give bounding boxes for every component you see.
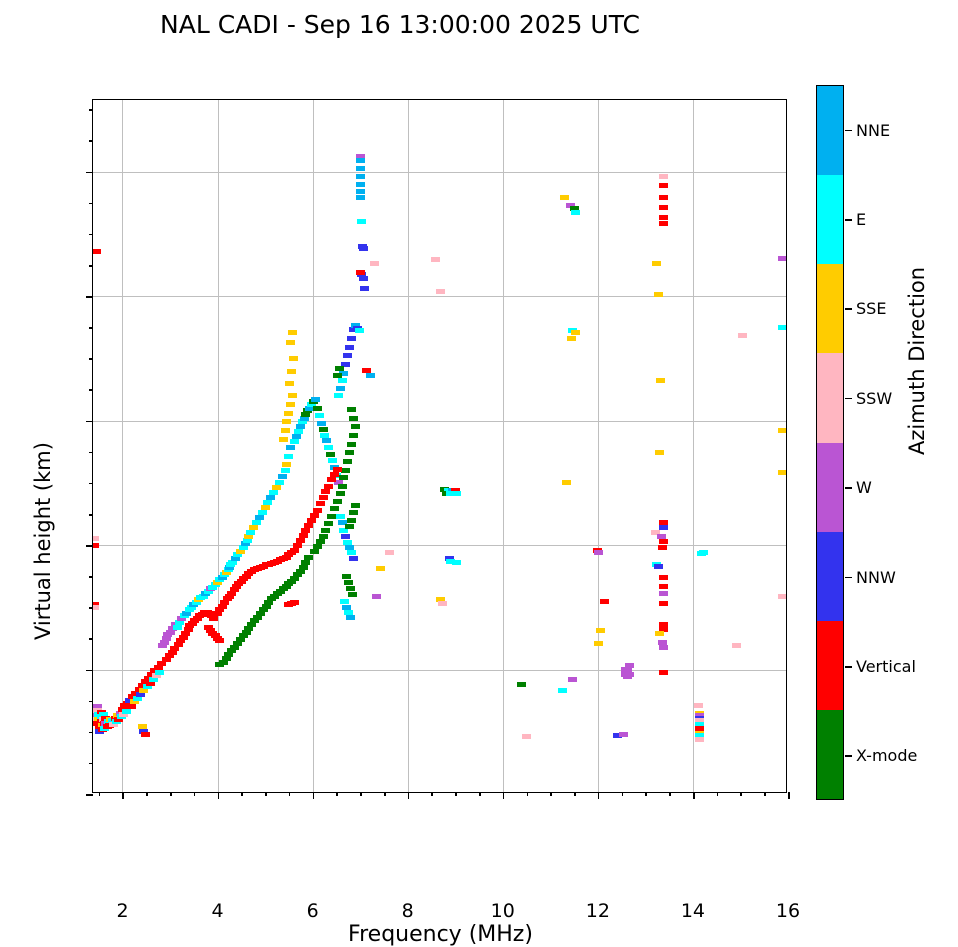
x-tick <box>408 792 410 799</box>
x-tick-minor <box>645 792 647 796</box>
x-tick-label: 4 <box>188 900 248 922</box>
echo-point <box>436 289 445 294</box>
echo-point <box>333 499 342 504</box>
echo-scatter-layer <box>93 100 786 792</box>
echo-point <box>732 643 741 648</box>
echo-point <box>351 424 360 429</box>
echo-point <box>316 501 325 506</box>
echo-point <box>659 183 668 188</box>
colorbar-band-ssw <box>817 353 843 442</box>
echo-point <box>659 215 668 220</box>
echo-point <box>567 336 576 341</box>
colorbar-tick <box>845 755 852 757</box>
x-tick-minor <box>336 792 338 796</box>
echo-point <box>349 416 358 421</box>
echo-point <box>327 477 336 482</box>
echo-point <box>594 550 603 555</box>
echo-point <box>334 393 343 398</box>
echo-point <box>246 530 255 535</box>
y-tick-minor <box>89 327 93 329</box>
x-tick-label: 2 <box>92 900 152 922</box>
echo-point <box>345 524 354 529</box>
x-tick-minor <box>764 792 766 796</box>
colorbar-tick <box>845 487 852 489</box>
echo-point <box>431 257 440 262</box>
echo-point <box>625 672 634 677</box>
echo-point <box>304 523 313 528</box>
y-tick-minor <box>89 389 93 391</box>
echo-point <box>738 333 747 338</box>
echo-point <box>778 256 786 261</box>
echo-point <box>356 270 365 275</box>
echo-point <box>310 549 319 554</box>
echo-point <box>93 543 99 548</box>
echo-point <box>562 480 571 485</box>
echo-point <box>284 454 293 459</box>
echo-point <box>278 474 287 479</box>
x-tick <box>788 792 790 799</box>
echo-point <box>659 525 668 530</box>
echo-point <box>359 276 368 281</box>
echo-point <box>655 631 664 636</box>
echo-point <box>317 421 326 426</box>
echo-point <box>322 438 331 443</box>
x-tick-minor <box>669 792 671 796</box>
echo-point <box>330 506 339 511</box>
echo-point <box>290 439 299 444</box>
colorbar-band-w <box>817 443 843 532</box>
echo-point <box>341 534 350 539</box>
echo-point <box>281 428 290 433</box>
echo-point <box>328 458 337 463</box>
colorbar-tick <box>845 308 852 310</box>
echo-point <box>326 452 335 457</box>
echo-point <box>293 543 302 548</box>
echo-point <box>258 510 267 515</box>
echo-point <box>356 195 365 200</box>
x-tick-minor <box>479 792 481 796</box>
echo-point <box>269 490 278 495</box>
x-tick <box>503 792 505 799</box>
x-tick-minor <box>550 792 552 796</box>
echo-point <box>261 505 270 510</box>
x-tick-minor <box>241 792 243 796</box>
echo-point <box>266 495 275 500</box>
echo-point <box>359 246 368 251</box>
echo-point <box>287 369 296 374</box>
echo-point <box>342 574 351 579</box>
x-tick-minor <box>146 792 148 796</box>
x-tick-minor <box>740 792 742 796</box>
echo-point <box>345 450 354 455</box>
y-tick-minor <box>89 265 93 267</box>
echo-point <box>372 594 381 599</box>
y-tick-minor <box>89 358 93 360</box>
echo-point <box>324 484 333 489</box>
echo-point <box>296 538 305 543</box>
echo-point <box>349 510 358 515</box>
echo-point <box>654 564 663 569</box>
echo-point <box>659 645 668 650</box>
echo-point <box>338 484 347 489</box>
x-axis-label: Frequency (MHz) <box>93 922 788 947</box>
echo-point <box>290 600 299 605</box>
y-tick-minor <box>89 607 93 609</box>
echo-point <box>275 480 284 485</box>
echo-point <box>619 732 628 737</box>
y-tick-minor <box>89 514 93 516</box>
echo-point <box>141 732 150 737</box>
colorbar-band-sse <box>817 264 843 353</box>
colorbar-label-e: E <box>856 210 866 229</box>
x-tick-minor <box>622 792 624 796</box>
colorbar-tick <box>845 398 852 400</box>
echo-point <box>659 539 668 544</box>
echo-point <box>272 485 281 490</box>
x-tick-minor <box>717 792 719 796</box>
echo-point <box>288 393 297 398</box>
echo-point <box>335 366 344 371</box>
echo-point <box>348 592 357 597</box>
echo-point <box>339 475 348 480</box>
echo-point <box>316 539 325 544</box>
echo-point <box>285 381 294 386</box>
echo-point <box>286 340 295 345</box>
echo-point <box>307 518 316 523</box>
echo-point <box>652 261 661 266</box>
echo-point <box>356 166 365 171</box>
echo-point <box>594 641 603 646</box>
echo-point <box>315 413 324 418</box>
echo-point <box>517 682 526 687</box>
echo-point <box>122 709 131 714</box>
echo-point <box>292 434 301 439</box>
echo-point <box>340 599 349 604</box>
y-tick-minor <box>89 732 93 734</box>
page-title: NAL CADI - Sep 16 13:00:00 2025 UTC <box>0 10 800 39</box>
echo-point <box>356 182 365 187</box>
echo-point <box>558 688 567 693</box>
echo-point <box>343 459 352 464</box>
colorbar-band-x-mode <box>817 710 843 799</box>
x-tick-minor <box>194 792 196 796</box>
echo-point <box>346 586 355 591</box>
echo-point <box>659 591 668 596</box>
echo-point <box>360 286 369 291</box>
echo-point <box>778 428 786 433</box>
echo-point <box>321 489 330 494</box>
colorbar-label-nnw: NNW <box>856 568 896 587</box>
x-tick <box>218 792 220 799</box>
x-tick-minor <box>170 792 172 796</box>
colorbar-band-e <box>817 175 843 264</box>
y-tick-minor <box>89 483 93 485</box>
colorbar-title: Azimuth Direction <box>905 267 929 455</box>
echo-point <box>349 556 358 561</box>
echo-point <box>321 528 330 533</box>
echo-point <box>596 628 605 633</box>
y-tick <box>86 172 93 174</box>
echo-point <box>299 533 308 538</box>
echo-point <box>282 462 291 467</box>
echo-point <box>343 353 352 358</box>
x-tick-minor <box>99 792 101 796</box>
echo-point <box>695 737 704 742</box>
colorbar-band-vertical <box>817 621 843 710</box>
echo-point <box>286 402 295 407</box>
echo-point <box>289 356 298 361</box>
echo-point <box>778 594 786 599</box>
echo-point <box>127 704 136 709</box>
echo-point <box>656 378 665 383</box>
ionogram-figure: NAL CADI - Sep 16 13:00:00 2025 UTC Virt… <box>0 0 958 857</box>
echo-point <box>249 525 258 530</box>
echo-point <box>778 325 786 330</box>
x-tick <box>693 792 695 799</box>
echo-point <box>560 195 569 200</box>
y-tick <box>86 421 93 423</box>
echo-point <box>347 442 356 447</box>
echo-point <box>600 599 609 604</box>
echo-point <box>349 433 358 438</box>
echo-point <box>288 330 297 335</box>
echo-point <box>376 566 385 571</box>
echo-point <box>255 515 264 520</box>
echo-point <box>366 373 375 378</box>
echo-point <box>346 615 355 620</box>
x-tick-minor <box>527 792 529 796</box>
y-tick-minor <box>89 701 93 703</box>
colorbar-tick <box>845 219 852 221</box>
echo-point <box>659 221 668 226</box>
echo-point <box>324 445 333 450</box>
echo-point <box>341 468 350 473</box>
echo-point <box>351 503 360 508</box>
echo-point <box>659 584 668 589</box>
echo-point <box>522 734 531 739</box>
echo-point <box>568 677 577 682</box>
y-tick <box>86 670 93 672</box>
y-tick-minor <box>89 140 93 142</box>
echo-point <box>659 195 668 200</box>
colorbar-label-ssw: SSW <box>856 389 892 408</box>
echo-point <box>294 429 303 434</box>
echo-point <box>319 427 328 432</box>
echo-point <box>654 292 663 297</box>
echo-point <box>286 445 295 450</box>
y-tick <box>86 545 93 547</box>
echo-point <box>347 407 356 412</box>
y-axis-label: Virtual height (km) <box>31 442 55 640</box>
echo-point <box>284 411 293 416</box>
echo-point <box>301 528 310 533</box>
echo-point <box>290 548 299 553</box>
echo-point <box>344 580 353 585</box>
x-tick-label: 10 <box>473 900 533 922</box>
echo-point <box>281 468 290 473</box>
echo-point <box>93 249 101 254</box>
echo-point <box>324 521 333 526</box>
y-tick-minor <box>89 452 93 454</box>
echo-point <box>355 328 364 333</box>
x-tick-minor <box>289 792 291 796</box>
y-tick-minor <box>89 234 93 236</box>
x-tick <box>122 792 124 799</box>
echo-point <box>571 330 580 335</box>
echo-point <box>304 555 313 560</box>
echo-point <box>452 560 461 565</box>
colorbar-band-nne <box>817 86 843 175</box>
echo-point <box>655 450 664 455</box>
echo-point <box>356 158 365 163</box>
x-tick <box>598 792 600 799</box>
echo-point <box>385 550 394 555</box>
colorbar-label-vertical: Vertical <box>856 657 916 676</box>
x-tick-minor <box>360 792 362 796</box>
echo-point <box>659 670 668 675</box>
echo-point <box>697 551 706 556</box>
echo-point <box>299 565 308 570</box>
echo-point <box>659 205 668 210</box>
echo-point <box>778 470 786 475</box>
echo-point <box>659 174 668 179</box>
echo-point <box>356 174 365 179</box>
echo-point <box>93 605 99 610</box>
echo-point <box>93 536 99 541</box>
echo-point <box>659 575 668 580</box>
x-tick-label: 12 <box>568 900 628 922</box>
colorbar-tick <box>845 130 852 132</box>
echo-point <box>301 560 310 565</box>
echo-point <box>658 545 667 550</box>
echo-point <box>215 638 224 643</box>
y-tick-minor <box>89 576 93 578</box>
x-tick-minor <box>384 792 386 796</box>
echo-point <box>336 386 345 391</box>
y-tick <box>86 794 93 796</box>
echo-point <box>452 491 461 496</box>
echo-point <box>347 550 356 555</box>
echo-point <box>347 336 356 341</box>
colorbar <box>816 85 844 800</box>
echo-point <box>330 472 339 477</box>
echo-point <box>209 616 218 621</box>
x-tick-minor <box>265 792 267 796</box>
echo-point <box>173 625 182 630</box>
x-tick-label: 6 <box>283 900 343 922</box>
echo-point <box>313 544 322 549</box>
colorbar-tick <box>845 577 852 579</box>
echo-point <box>356 189 365 194</box>
colorbar-label-nne: NNE <box>856 121 890 140</box>
colorbar-label-w: W <box>856 478 872 497</box>
echo-point <box>310 513 319 518</box>
x-tick-minor <box>455 792 457 796</box>
echo-point <box>338 378 347 383</box>
echo-point <box>659 601 668 606</box>
echo-point <box>313 406 322 411</box>
y-tick-minor <box>89 109 93 111</box>
x-tick-label: 16 <box>758 900 818 922</box>
echo-point <box>347 518 356 523</box>
y-tick-minor <box>89 638 93 640</box>
echo-point <box>345 345 354 350</box>
echo-point <box>357 219 366 224</box>
echo-point <box>252 520 261 525</box>
echo-point <box>333 467 342 472</box>
echo-point <box>155 670 164 675</box>
echo-point <box>319 534 328 539</box>
echo-point <box>571 210 580 215</box>
echo-point <box>370 261 379 266</box>
x-tick-label: 14 <box>663 900 723 922</box>
colorbar-band-nnw <box>817 532 843 621</box>
y-tick-minor <box>89 203 93 205</box>
echo-point <box>263 500 272 505</box>
echo-point <box>296 424 305 429</box>
plot-area: Virtual height (km) Frequency (MHz) 2468… <box>92 99 787 793</box>
colorbar-tick <box>845 666 852 668</box>
x-tick <box>313 792 315 799</box>
colorbar-label-sse: SSE <box>856 299 886 318</box>
x-tick-label: 8 <box>378 900 438 922</box>
echo-point <box>333 373 342 378</box>
echo-point <box>438 601 447 606</box>
echo-point <box>279 437 288 442</box>
echo-point <box>311 397 320 402</box>
echo-point <box>336 514 345 519</box>
echo-point <box>313 508 322 513</box>
x-tick-minor <box>574 792 576 796</box>
y-tick-minor <box>89 763 93 765</box>
echo-point <box>282 419 291 424</box>
echo-point <box>694 703 703 708</box>
x-tick-minor <box>431 792 433 796</box>
echo-point <box>336 491 345 496</box>
y-tick <box>86 296 93 298</box>
echo-point <box>319 495 328 500</box>
colorbar-label-x-mode: X-mode <box>856 746 917 765</box>
